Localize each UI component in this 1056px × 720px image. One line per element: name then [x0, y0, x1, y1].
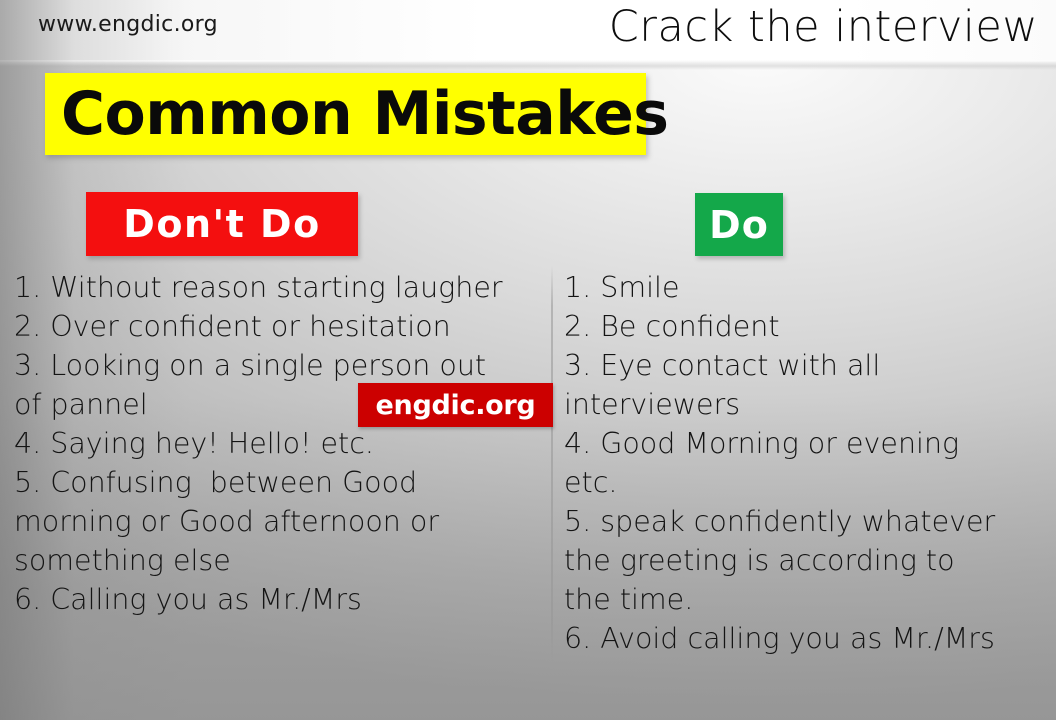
- background-top-band-edge: [0, 60, 1056, 70]
- watermark-label: engdic.org: [376, 390, 536, 421]
- dont-do-badge: Don't Do: [86, 192, 358, 256]
- slide-canvas: www.engdic.org Crack the interview Commo…: [0, 0, 1056, 720]
- dont-do-list: 1. Without reason starting laugher 2. Ov…: [14, 268, 554, 619]
- watermark-badge: engdic.org: [358, 383, 553, 427]
- list-item: 3. Eye contact with all interviewers: [564, 346, 1056, 424]
- page-title-text: Common Mistakes: [61, 84, 668, 144]
- do-list: 1. Smile 2. Be confident 3. Eye contact …: [564, 268, 1056, 658]
- do-badge-label: Do: [709, 203, 769, 247]
- site-url: www.engdic.org: [38, 12, 218, 37]
- do-badge: Do: [695, 193, 783, 256]
- list-item: 1. Smile: [564, 268, 1056, 307]
- list-item: 2. Over confident or hesitation: [14, 307, 554, 346]
- list-item: 2. Be confident: [564, 307, 1056, 346]
- list-item: 6. Avoid calling you as Mr./Mrs: [564, 619, 1056, 658]
- dont-do-badge-label: Don't Do: [123, 202, 320, 246]
- tagline: Crack the interview: [609, 6, 1038, 49]
- list-item: 1. Without reason starting laugher: [14, 268, 554, 307]
- list-item: 5. Confusing between Good morning or Goo…: [14, 463, 554, 580]
- list-item: 6. Calling you as Mr./Mrs: [14, 580, 554, 619]
- list-item: 5. speak confidently whatever the greeti…: [564, 502, 1056, 619]
- list-item: 4. Good Morning or evening etc.: [564, 424, 1056, 502]
- page-title: Common Mistakes: [45, 73, 646, 155]
- list-item: 4. Saying hey! Hello! etc.: [14, 424, 554, 463]
